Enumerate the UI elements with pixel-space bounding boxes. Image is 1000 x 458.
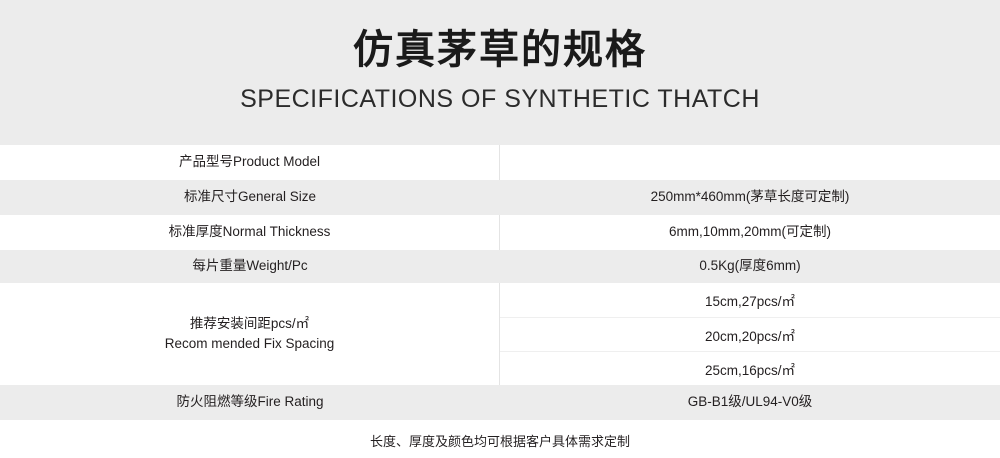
spacing-value-item: 25cm,16pcs/㎡ [500,351,1000,385]
row-label-cn: 推荐安装间距pcs/㎡ [190,314,309,334]
table-row: 每片重量Weight/Pc 0.5Kg(厚度6mm) [0,250,1000,283]
spacing-value-list: 15cm,27pcs/㎡ 20cm,20pcs/㎡ 25cm,16pcs/㎡ [500,283,1000,385]
table-row: 防火阻燃等级Fire Rating GB-B1级/UL94-V0级 [0,385,1000,420]
row-value: 0.5Kg(厚度6mm) [500,250,1000,283]
row-label: 产品型号Product Model [0,145,500,180]
row-value: 6mm,10mm,20mm(可定制) [500,215,1000,250]
spec-sheet-page: 仿真茅草的规格 SPECIFICATIONS OF SYNTHETIC THAT… [0,0,1000,458]
row-value: GB-B1级/UL94-V0级 [500,385,1000,420]
row-label: 每片重量Weight/Pc [0,250,500,283]
row-label: 标准厚度Normal Thickness [0,215,500,250]
page-title-cn: 仿真茅草的规格 [353,26,647,74]
table-row: 标准尺寸General Size 250mm*460mm(茅草长度可定制) [0,180,1000,215]
table-row: 产品型号Product Model [0,145,1000,180]
row-label: 防火阻燃等级Fire Rating [0,385,500,420]
row-label: 标准尺寸General Size [0,180,500,215]
row-label-en: Recom mended Fix Spacing [165,334,335,354]
footnote-text: 长度、厚度及颜色均可根据客户具体需求定制 [0,422,1000,458]
page-title-en: SPECIFICATIONS OF SYNTHETIC THATCH [240,84,760,114]
table-row-spacing: 推荐安装间距pcs/㎡ Recom mended Fix Spacing 15c… [0,283,1000,385]
row-value [500,145,1000,180]
row-label: 推荐安装间距pcs/㎡ Recom mended Fix Spacing [0,283,500,385]
table-row: 标准厚度Normal Thickness 6mm,10mm,20mm(可定制) [0,215,1000,250]
page-header: 仿真茅草的规格 SPECIFICATIONS OF SYNTHETIC THAT… [0,0,1000,145]
spacing-value-item: 15cm,27pcs/㎡ [500,283,1000,317]
spacing-value-item: 20cm,20pcs/㎡ [500,317,1000,351]
specification-table: 产品型号Product Model 标准尺寸General Size 250mm… [0,145,1000,420]
row-value: 250mm*460mm(茅草长度可定制) [500,180,1000,215]
